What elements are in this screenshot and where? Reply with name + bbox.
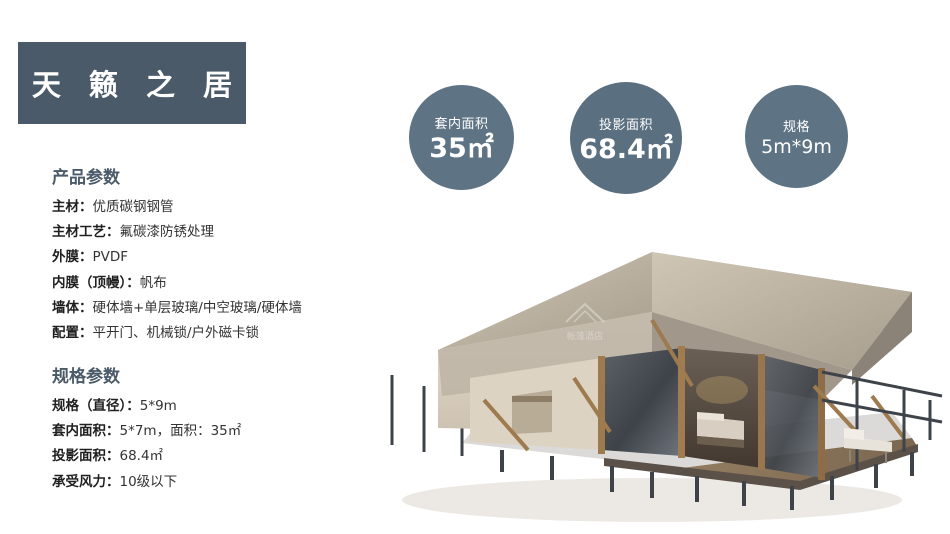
stat-label: 投影面积 — [599, 114, 653, 133]
product-parameters-section: 产品参数 主材：优质碳钢钢管 主材工艺：氟碳漆防锈处理 外膜：PVDF 内膜（顶… — [52, 163, 302, 350]
stat-value: 5m*9m — [761, 138, 832, 157]
param-value: 5*9m — [140, 398, 177, 414]
glass-panel-2 — [762, 355, 822, 478]
param-value: 硬体墙+单层玻璃/中空玻璃/硬体墙 — [93, 300, 302, 316]
param-row: 配置：平开门、机械锁/户外磁卡锁 — [52, 325, 302, 341]
param-value: 10级以下 — [120, 474, 178, 490]
param-label: 规格（直径）： — [52, 398, 140, 414]
param-row: 外膜：PVDF — [52, 249, 302, 265]
param-label: 主材工艺： — [52, 224, 120, 240]
stat-value: 35㎡ — [429, 135, 494, 162]
param-label: 主材： — [52, 199, 93, 215]
param-value: 帆布 — [140, 275, 167, 291]
param-value: 平开门、机械锁/户外磁卡锁 — [93, 325, 260, 341]
section-heading-product: 产品参数 — [52, 163, 302, 188]
param-label: 配置： — [52, 325, 93, 341]
param-row: 内膜（顶幔）：帆布 — [52, 275, 302, 291]
param-value: 氟碳漆防锈处理 — [120, 224, 215, 240]
stat-circle-dimensions: 规格 5m*9m — [745, 85, 848, 188]
param-row: 墙体：硬体墙+单层玻璃/中空玻璃/硬体墙 — [52, 300, 302, 316]
page-title: 天 籁 之 居 — [23, 62, 241, 104]
tent-house-illustration — [352, 200, 950, 530]
size-parameters-section: 规格参数 规格（直径）：5*9m 套内面积：5*7m，面积：35㎡ 投影面积：6… — [52, 362, 241, 499]
param-row: 主材工艺：氟碳漆防锈处理 — [52, 224, 302, 240]
param-label: 内膜（顶幔）： — [52, 275, 140, 291]
title-badge: 天 籁 之 居 — [18, 42, 246, 124]
param-label: 外膜： — [52, 249, 93, 265]
interior-lamp-glow — [696, 376, 748, 404]
interior-room — [682, 348, 762, 468]
stat-label: 规格 — [783, 116, 810, 135]
param-value: 5*7m，面积：35㎡ — [120, 423, 242, 439]
glass-panel-1 — [602, 348, 682, 456]
param-row: 规格（直径）：5*9m — [52, 398, 241, 414]
stat-label: 套内面积 — [434, 113, 488, 132]
annex-window-frame — [512, 396, 552, 402]
param-value: 68.4㎡ — [120, 448, 164, 464]
param-label: 投影面积： — [52, 448, 120, 464]
stat-value: 68.4㎡ — [579, 136, 673, 163]
stat-circle-projected-area: 投影面积 68.4㎡ — [570, 82, 682, 194]
param-row: 套内面积：5*7m，面积：35㎡ — [52, 423, 241, 439]
param-label: 套内面积： — [52, 423, 120, 439]
stat-circle-interior-area: 套内面积 35㎡ — [409, 85, 514, 190]
param-label: 墙体： — [52, 300, 93, 316]
param-label: 承受风力： — [52, 474, 120, 490]
param-value: 优质碳钢钢管 — [93, 199, 174, 215]
section-heading-size: 规格参数 — [52, 362, 241, 387]
param-row: 承受风力：10级以下 — [52, 474, 241, 490]
param-row: 投影面积：68.4㎡ — [52, 448, 241, 464]
param-value: PVDF — [93, 249, 129, 265]
param-row: 主材：优质碳钢钢管 — [52, 199, 302, 215]
